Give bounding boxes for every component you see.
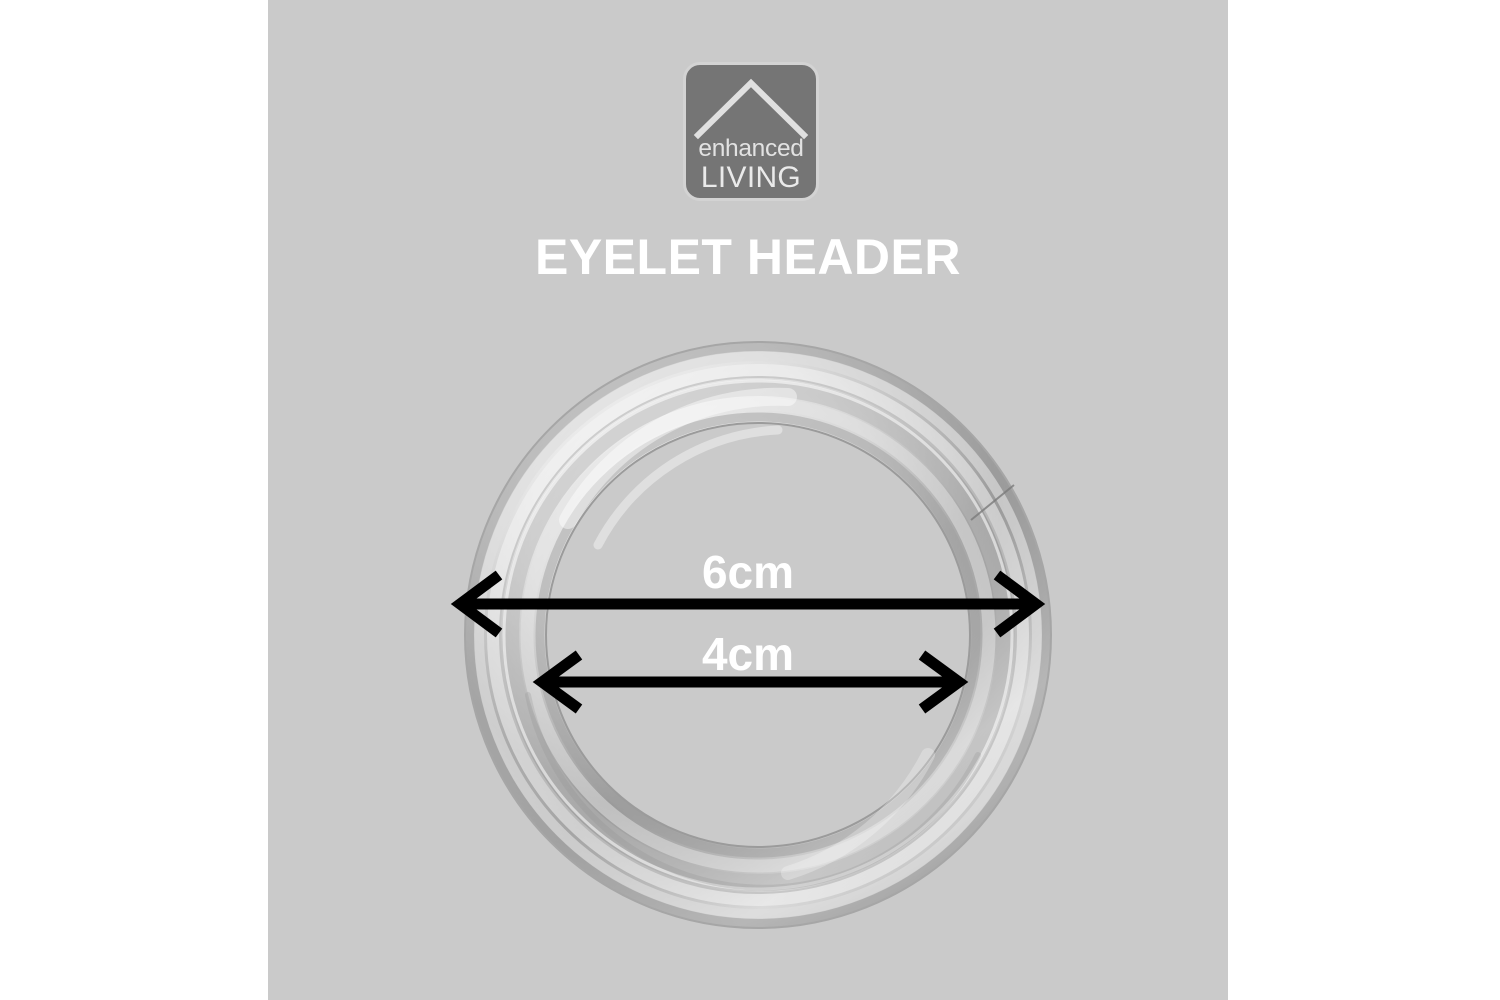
inner-dimension-label: 4cm — [268, 627, 1228, 681]
brand-logo-line1: enhanced — [686, 137, 816, 162]
outer-dimension-label: 6cm — [268, 545, 1228, 599]
page-title: EYELET HEADER — [268, 228, 1228, 286]
product-image-canvas: enhanced LIVING EYELET HEADER — [0, 0, 1500, 1000]
product-panel: enhanced LIVING EYELET HEADER — [268, 0, 1228, 1000]
brand-logo: enhanced LIVING — [683, 62, 819, 201]
house-roof-chevron-icon — [686, 71, 816, 143]
brand-logo-text: enhanced LIVING — [686, 137, 816, 193]
brand-logo-line2: LIVING — [686, 163, 816, 193]
